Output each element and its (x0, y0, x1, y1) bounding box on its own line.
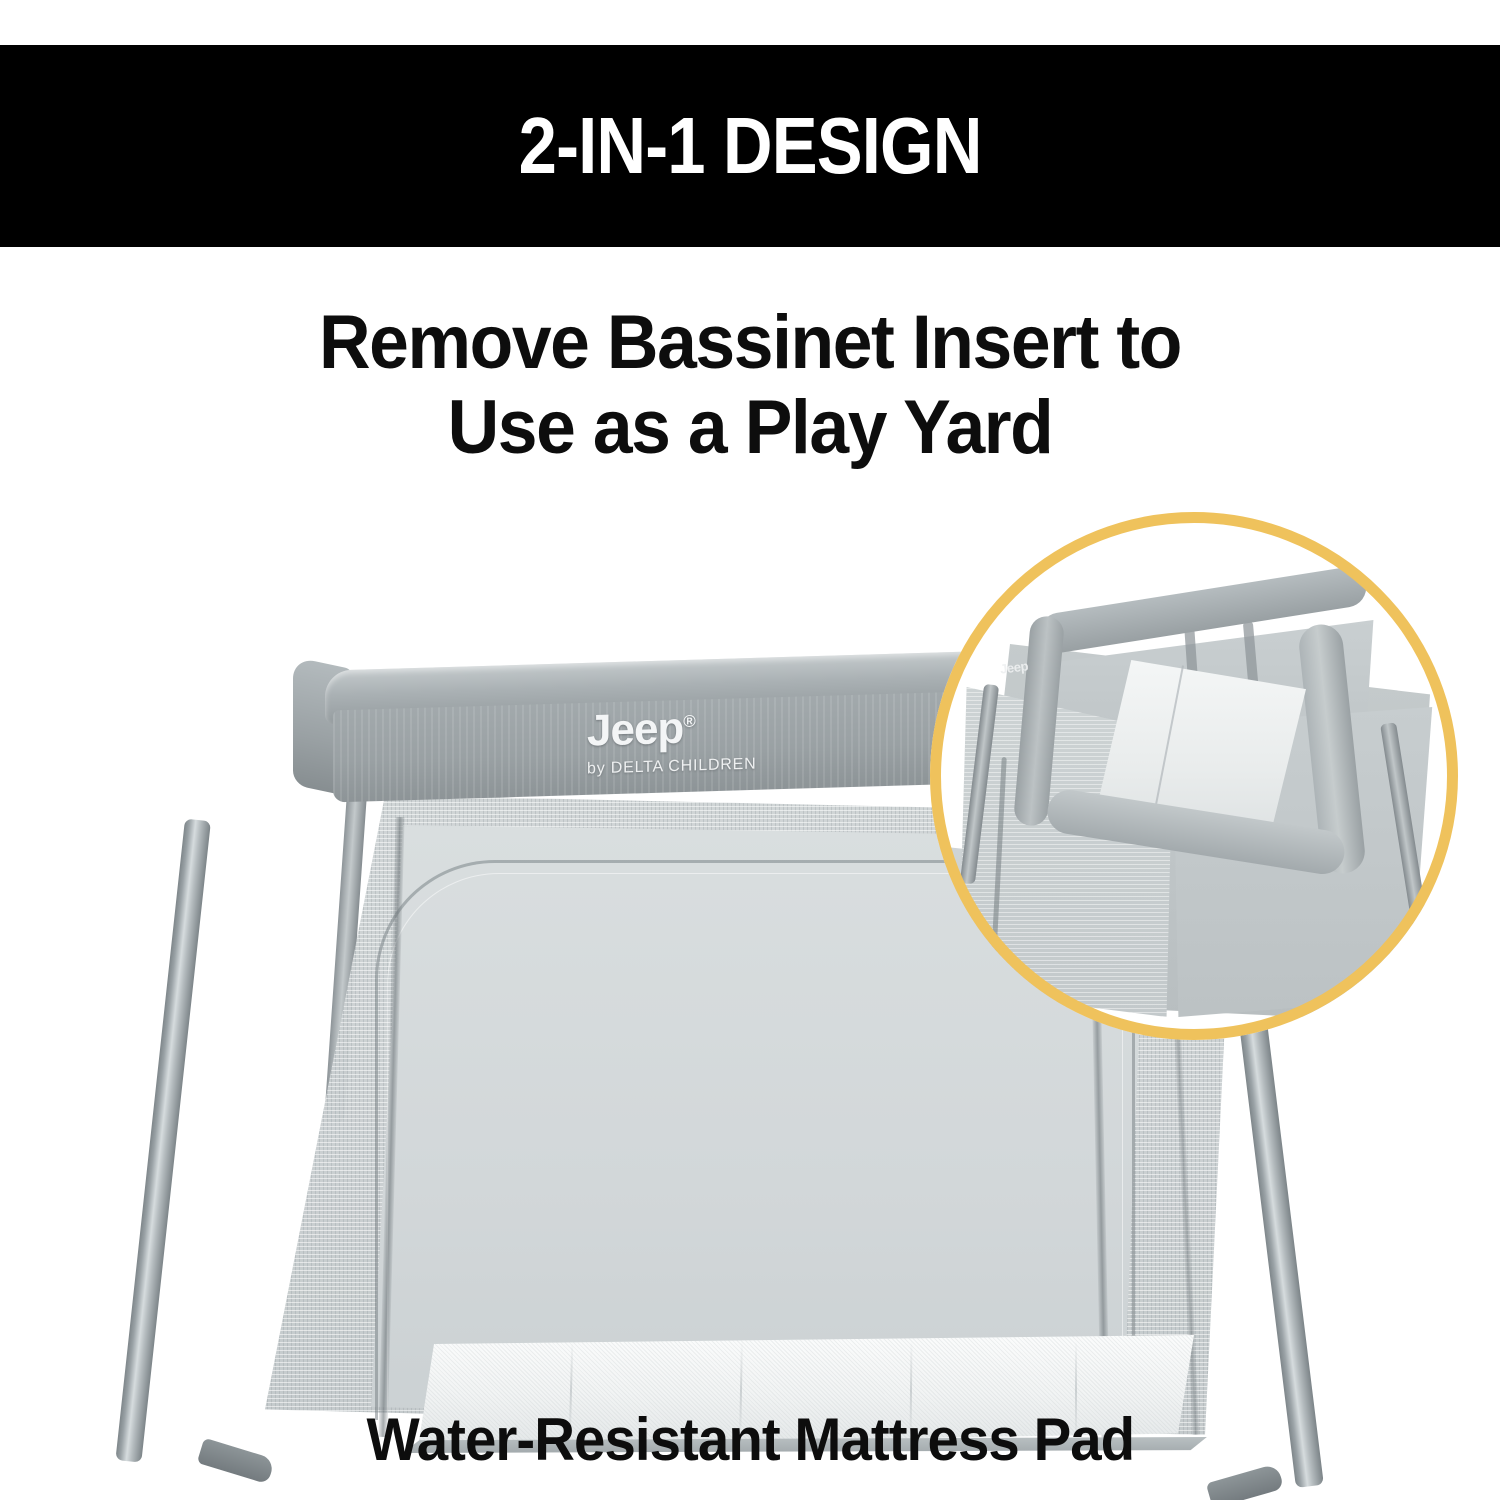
product-photo: Jeep® by DELTA CHILDREN (0, 480, 1500, 1380)
play-yard-leg-front-left (115, 819, 211, 1463)
header-banner: 2-IN-1 DESIGN (0, 45, 1500, 247)
bassinet-callout-inset: Jeep (930, 512, 1458, 1040)
bottom-caption-text: Water-Resistant Mattress Pad (366, 1405, 1134, 1474)
headline-line-2: Use as a Play Yard (45, 385, 1455, 470)
headline-line-1: Remove Bassinet Insert to (45, 300, 1455, 385)
brand-logo: Jeep® by DELTA CHILDREN (587, 704, 757, 778)
bottom-caption: Water-Resistant Mattress Pad (0, 1405, 1500, 1474)
brand-name-text: Jeep (587, 704, 683, 756)
headline: Remove Bassinet Insert to Use as a Play … (0, 300, 1500, 470)
banner-title: 2-IN-1 DESIGN (519, 106, 982, 186)
marketing-image: 2-IN-1 DESIGN Remove Bassinet Insert to … (0, 0, 1500, 1500)
brand-name: Jeep® (587, 704, 757, 753)
trademark-symbol: ® (683, 712, 695, 731)
